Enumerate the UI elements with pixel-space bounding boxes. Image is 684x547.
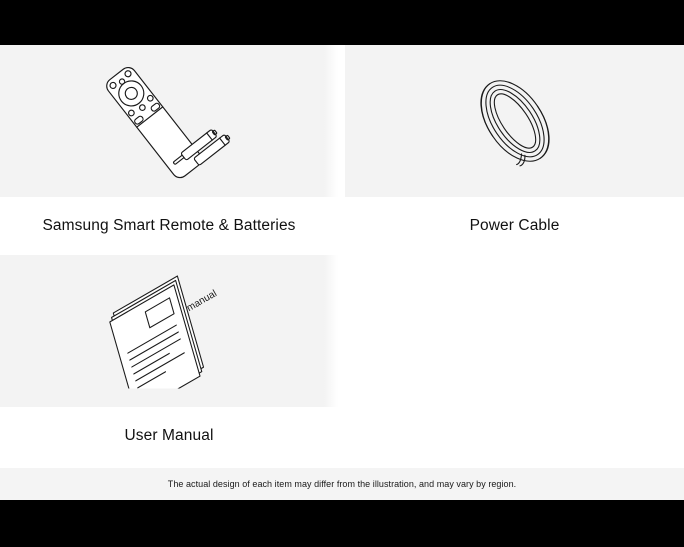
accessory-label: Samsung Smart Remote & Batteries bbox=[0, 197, 338, 235]
manual-cover-text: manual bbox=[185, 288, 219, 314]
accessory-label: User Manual bbox=[0, 407, 338, 445]
disclaimer-text: The actual design of each item may diffe… bbox=[168, 479, 516, 489]
accessory-thumbnail bbox=[345, 45, 684, 197]
remote-control-and-batteries-icon bbox=[79, 61, 259, 181]
accessory-thumbnail bbox=[0, 45, 338, 197]
user-manual-booklet-icon: manual bbox=[89, 274, 249, 389]
coiled-power-cable-icon bbox=[440, 66, 590, 176]
accessory-card-remote-batteries[interactable]: Samsung Smart Remote & Batteries bbox=[0, 45, 338, 248]
accessory-thumbnail: manual bbox=[0, 255, 338, 407]
disclaimer-strip: The actual design of each item may diffe… bbox=[0, 468, 684, 500]
letterbox-bar-bottom bbox=[0, 500, 684, 547]
letterbox-bar-top bbox=[0, 0, 684, 45]
accessory-card-user-manual[interactable]: manual User Manual bbox=[0, 255, 338, 458]
accessory-label: Power Cable bbox=[345, 197, 684, 235]
accessory-showcase-screen: Samsung Smart Remote & Batteries bbox=[0, 0, 684, 547]
accessory-card-power-cable[interactable]: Power Cable bbox=[345, 45, 684, 248]
content-stage: Samsung Smart Remote & Batteries bbox=[0, 45, 684, 500]
